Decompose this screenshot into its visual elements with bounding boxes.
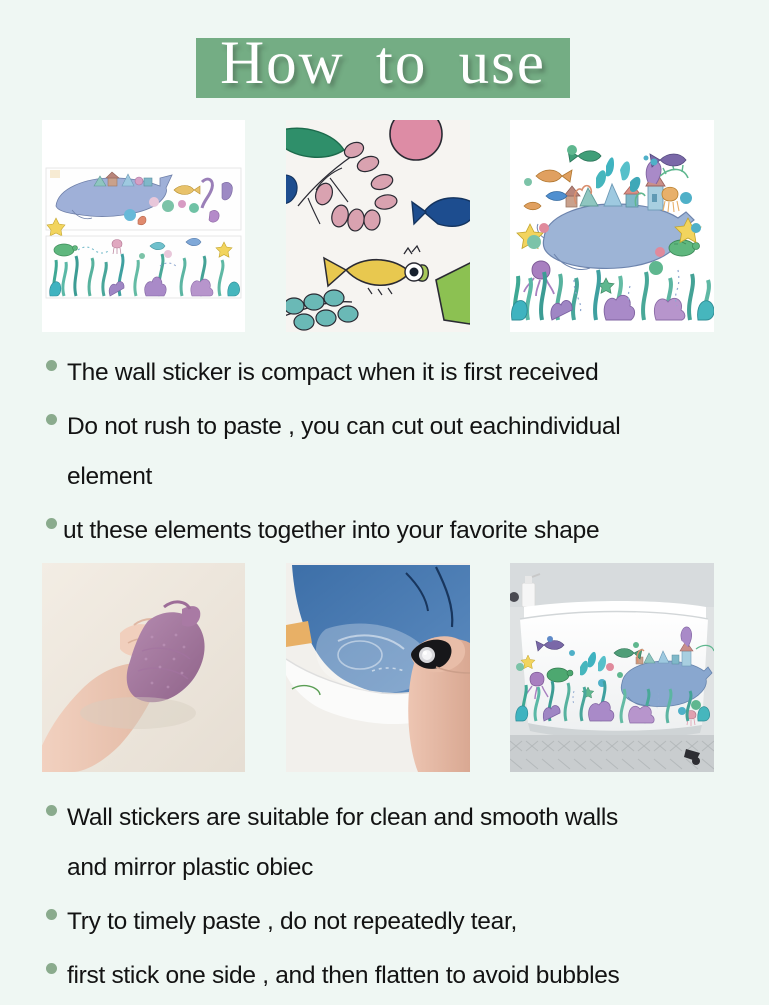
photo-sticker-closeup-elements [286,120,470,332]
list-item: ut these elements together into your fav… [46,506,746,556]
list-item: Try to timely paste , do not repeatedly … [46,897,746,947]
bullet-dot-icon [46,414,57,425]
list-item-label: Wall stickers are suitable for clean and… [67,793,618,893]
list-item-label: Try to timely paste , do not repeatedly … [67,897,517,947]
bullet-dot-icon [46,909,57,920]
list-item-line: Do not rush to paste , you can cut out e… [67,413,620,440]
bullet-dot-icon [46,963,57,974]
list-item-line: Wall stickers are suitable for clean and… [67,804,618,831]
list-item: Do not rush to paste , you can cut out e… [46,402,746,502]
page-header: How to use [0,0,769,112]
list-item: The wall sticker is compact when it is f… [46,348,746,398]
list-item-label: The wall sticker is compact when it is f… [67,348,598,398]
list-item-label: first stick one side , and then flatten … [67,951,620,1001]
photo-assembled-underwater-scene [510,120,714,332]
application-step-photos [42,563,714,772]
list-item-label: ut these elements together into your fav… [63,506,599,556]
photo-sticker-sheet-two-strips [42,120,245,332]
list-item: first stick one side , and then flatten … [46,951,746,1001]
list-item-line: and mirror plastic obiec [67,854,313,881]
instructions-top: The wall sticker is compact when it is f… [46,348,746,560]
instructions-bottom: Wall stickers are suitable for clean and… [46,793,746,1005]
page-title: How to use [196,22,570,104]
list-item: Wall stickers are suitable for clean and… [46,793,746,893]
list-item-line: element [67,463,152,490]
bullet-dot-icon [46,805,57,816]
photo-finished-bathtub-panel [510,563,714,772]
product-sheet-photos [42,120,714,332]
list-item-label: Do not rush to paste , you can cut out e… [67,402,620,502]
photo-wipe-wall-with-cloth [42,563,245,772]
bullet-dot-icon [46,360,57,371]
bullet-dot-icon [46,518,57,529]
photo-peel-backing-from-sticker [286,563,470,772]
